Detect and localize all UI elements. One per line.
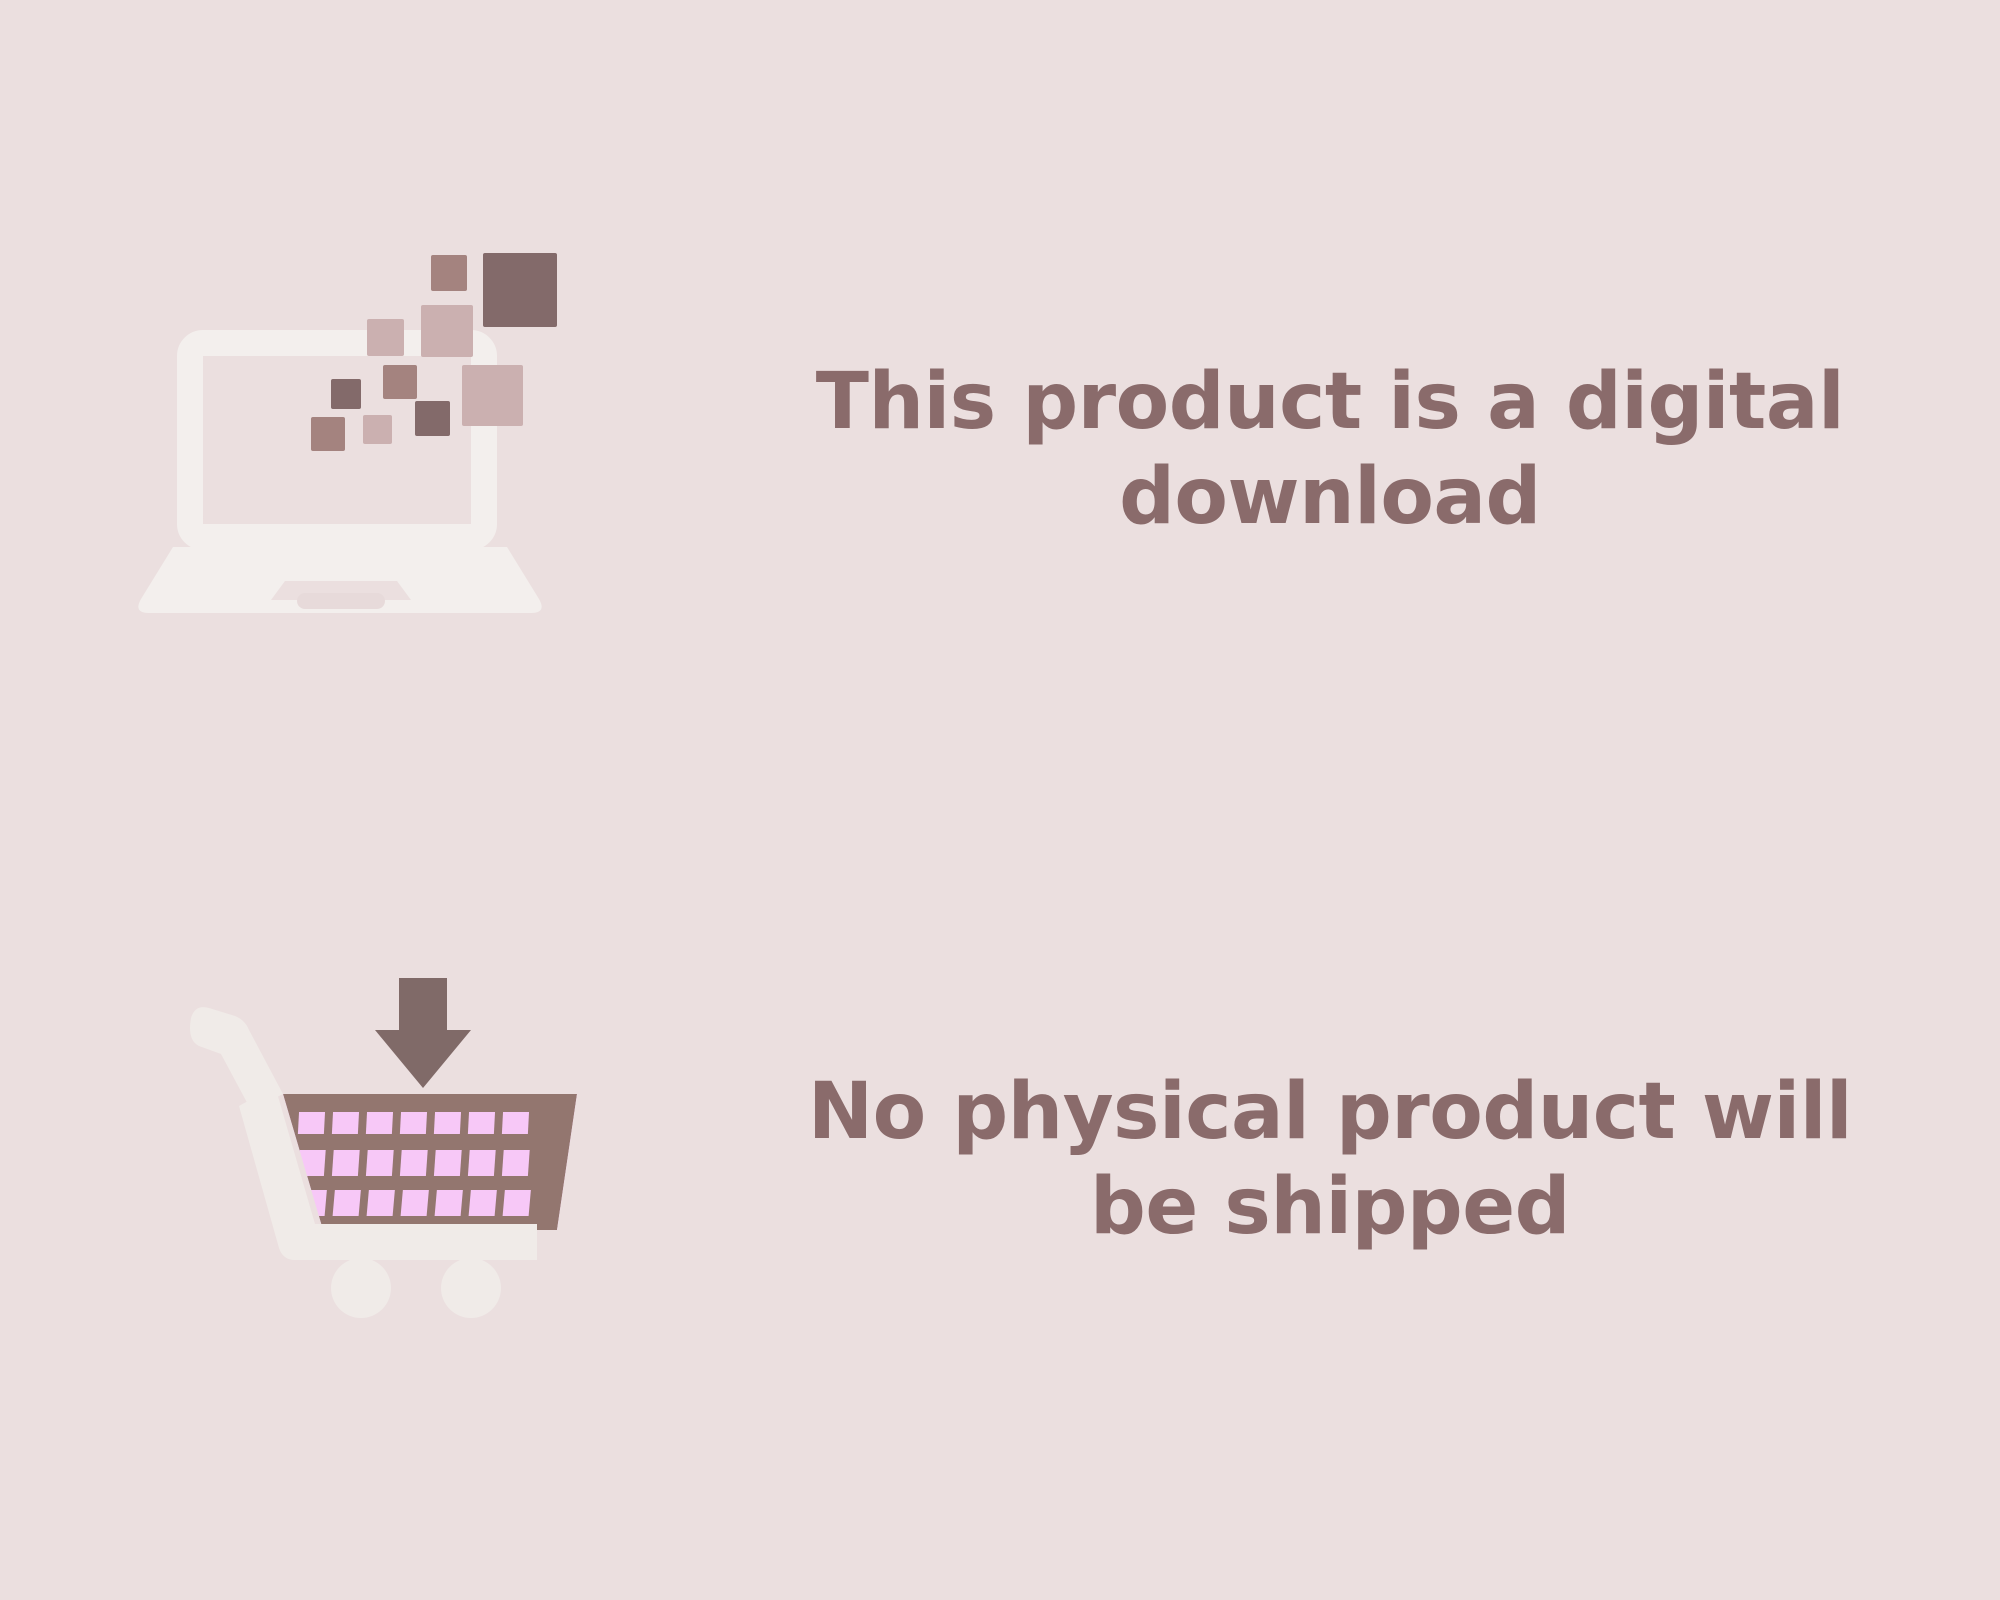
pixel-square [431,255,467,291]
no-shipping-text-cell: No physical product will be shipped [790,1065,2000,1255]
cart-wheel [441,1258,501,1318]
pixel-square [483,253,557,327]
pixel-square [421,305,473,357]
feature-row-digital-download: This product is a digital download [0,170,2000,730]
cart-icon-cell [0,960,790,1360]
pixel-square [311,417,345,451]
no-shipping-line-2: be shipped [1090,1162,1570,1252]
poster-canvas: This product is a digital download [0,0,2000,1600]
feature-row-no-shipping: No physical product will be shipped [0,880,2000,1440]
pixel-square [462,365,523,426]
cart-basket [283,1094,577,1230]
pixel-square [367,319,404,356]
pixel-square [415,401,450,436]
pixel-square [331,379,361,409]
no-shipping-line-1: No physical product will [808,1067,1852,1157]
digital-download-text-cell: This product is a digital download [790,355,2000,545]
digital-download-text: This product is a digital download [790,355,1870,545]
download-arrow-icon [375,978,471,1088]
no-shipping-text: No physical product will be shipped [790,1065,1870,1255]
shopping-cart-download-icon [165,960,625,1360]
pixel-square [383,365,417,399]
digital-download-line-1: This product is a digital [816,357,1844,447]
laptop-icon-cell [0,225,790,675]
pixel-square [363,415,392,444]
cart-wheel [331,1258,391,1318]
laptop-trackpad-notch [297,593,385,609]
laptop-pixels-icon [135,225,655,675]
digital-download-line-2: download [1119,452,1541,542]
